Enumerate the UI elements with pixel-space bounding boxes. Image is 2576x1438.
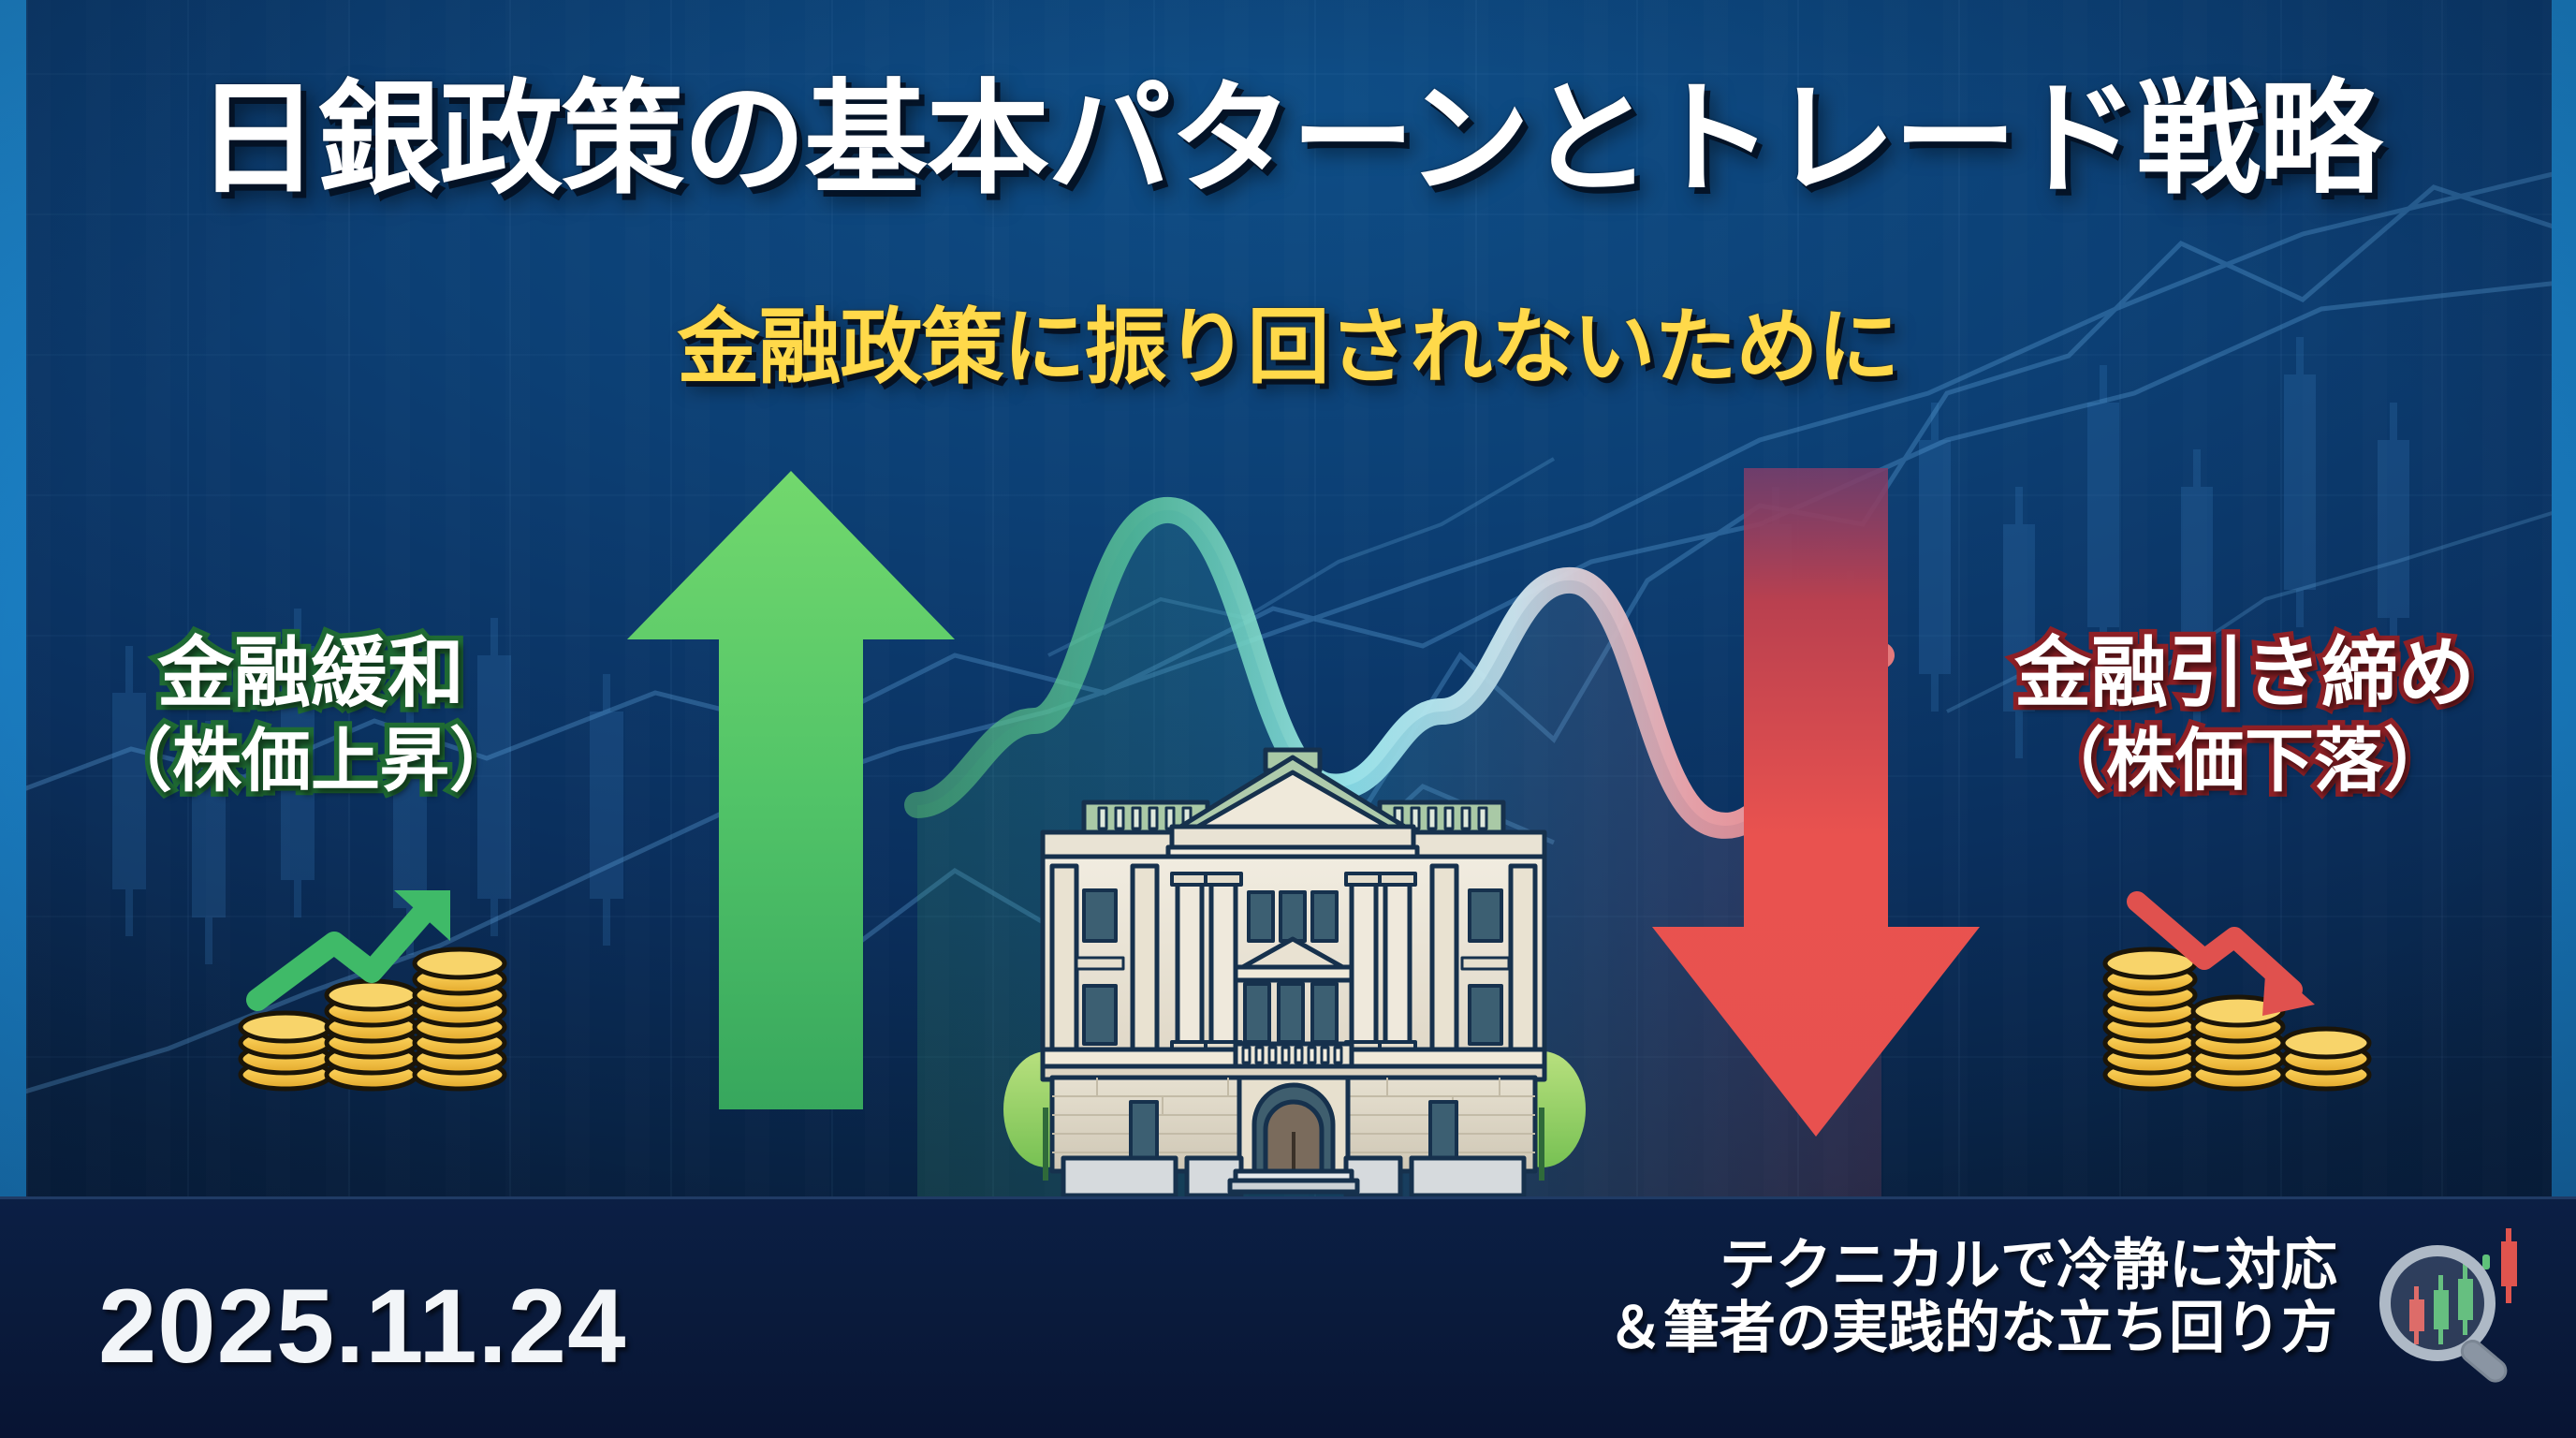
label-monetary-tightening-line2: （株価下落） [2014, 720, 2475, 801]
rising-coin-stacks-icon [229, 875, 520, 1095]
label-monetary-easing-line2: （株価上昇） [103, 720, 519, 801]
falling-coin-stacks-icon [2092, 875, 2392, 1095]
page-title: 日銀政策の基本パターンとトレード戦略 [0, 39, 2576, 218]
label-monetary-easing: 金融緩和 （株価上昇） [103, 629, 519, 801]
magnifier-candlestick-logo [2353, 1217, 2550, 1395]
red-down-arrow-icon [1643, 468, 1989, 1142]
footer-tagline-line2: ＆筆者の実践的な立ち回り方 [1607, 1297, 2337, 1359]
label-monetary-easing-line1: 金融緩和 [103, 629, 519, 720]
page-subtitle: 金融政策に振り回されないために [0, 281, 2576, 400]
green-up-arrow-icon [618, 463, 964, 1109]
footer-tagline: テクニカルで冷静に対応 ＆筆者の実践的な立ち回り方 [1607, 1234, 2337, 1359]
thumbnail-canvas: 日銀政策の基本パターンとトレード戦略 金融政策に振り回されないために 金融緩和 … [0, 0, 2576, 1438]
label-monetary-tightening-line1: 金融引き締め [2014, 629, 2475, 720]
bank-of-japan-building-illustration [994, 735, 1593, 1198]
publish-date: 2025.11.24 [98, 1266, 626, 1387]
footer-tagline-line1: テクニカルで冷静に対応 [1607, 1234, 2337, 1297]
label-monetary-tightening: 金融引き締め （株価下落） [2014, 629, 2475, 801]
